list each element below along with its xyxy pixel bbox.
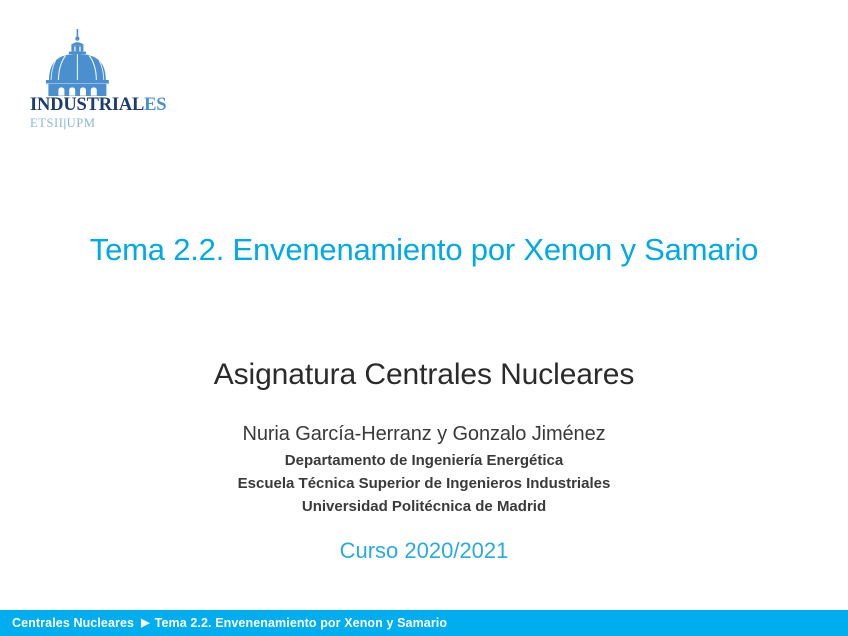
slide-title: Tema 2.2. Envenenamiento por Xenon y Sam… xyxy=(0,232,848,268)
slide-subject: Asignatura Centrales Nucleares xyxy=(0,358,848,392)
upm-industriales-logo: INDUSTRIALES ETSII|UPM xyxy=(30,28,170,128)
affiliation-line-school: Escuela Técnica Superior de Ingenieros I… xyxy=(0,473,848,496)
triangle-right-icon: ▶ xyxy=(134,618,155,629)
footer-bar: Centrales Nucleares ▶ Tema 2.2. Envenena… xyxy=(0,610,848,636)
dome-icon xyxy=(38,28,118,98)
logo-subtitle: ETSII|UPM xyxy=(30,117,170,130)
footer-breadcrumb: Centrales Nucleares ▶ Tema 2.2. Envenena… xyxy=(0,616,447,630)
logo-subtitle-etsii: ETSII xyxy=(30,116,64,130)
logo-subtitle-upm: UPM xyxy=(67,116,96,130)
affiliation-line-university: Universidad Politécnica de Madrid xyxy=(0,496,848,519)
logo-wordmark-es: ES xyxy=(144,95,166,115)
footer-course-label: Centrales Nucleares xyxy=(12,616,134,630)
slide-canvas: INDUSTRIALES ETSII|UPM Tema 2.2. Envenen… xyxy=(0,0,848,636)
affiliation-line-department: Departamento de Ingeniería Energética xyxy=(0,450,848,473)
slide-course-year: Curso 2020/2021 xyxy=(0,538,848,564)
logo-wordmark-industrial: INDUSTRIAL xyxy=(30,95,144,115)
logo-wordmark: INDUSTRIALES ETSII|UPM xyxy=(30,96,170,129)
slide-authors: Nuria García-Herranz y Gonzalo Jiménez xyxy=(0,423,848,446)
slide-affiliation: Departamento de Ingeniería Energética Es… xyxy=(0,450,848,518)
footer-topic-label: Tema 2.2. Envenenamiento por Xenon y Sam… xyxy=(155,616,447,630)
